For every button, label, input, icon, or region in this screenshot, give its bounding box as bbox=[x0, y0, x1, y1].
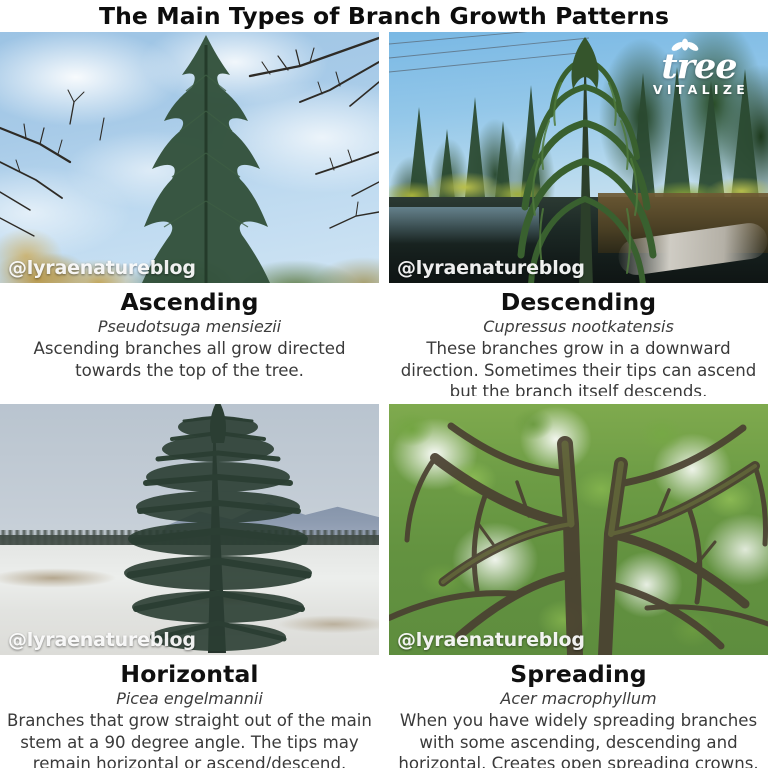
photo-descending: tree VITALIZE @lyraenatureblog bbox=[389, 32, 768, 283]
watermark-spreading: @lyraenatureblog bbox=[397, 629, 585, 651]
page-title: The Main Types of Branch Growth Patterns bbox=[0, 1, 768, 31]
species-spreading: Acer macrophyllum bbox=[389, 688, 768, 709]
spruce-tree-icon bbox=[114, 404, 324, 655]
brand-logo: tree VITALIZE bbox=[639, 38, 759, 97]
panel-spreading: @lyraenatureblog Spreading Acer macrophy… bbox=[389, 404, 768, 768]
heading-descending: Descending bbox=[389, 287, 768, 317]
caption-ascending: Ascending Pseudotsuga mensiezii Ascendin… bbox=[0, 283, 379, 381]
description-descending: These branches grow in a downward direct… bbox=[389, 338, 768, 396]
species-horizontal: Picea engelmannii bbox=[0, 688, 379, 709]
photo-ascending: @lyraenatureblog bbox=[0, 32, 379, 283]
caption-spreading: Spreading Acer macrophyllum When you hav… bbox=[389, 655, 768, 768]
heading-spreading: Spreading bbox=[389, 659, 768, 689]
brand-wordmark: tree bbox=[639, 49, 759, 85]
description-ascending: Ascending branches all grow directed tow… bbox=[0, 338, 379, 381]
photo-horizontal: @lyraenatureblog bbox=[0, 404, 379, 655]
infographic-root: The Main Types of Branch Growth Patterns bbox=[0, 0, 768, 768]
panel-grid: @lyraenatureblog Ascending Pseudotsuga m… bbox=[0, 32, 768, 768]
caption-descending: Descending Cupressus nootkatensis These … bbox=[389, 283, 768, 396]
watermark-descending: @lyraenatureblog bbox=[397, 257, 585, 279]
brand-subtitle: VITALIZE bbox=[643, 82, 759, 97]
conifer-tree-icon bbox=[136, 35, 276, 283]
watermark-ascending: @lyraenatureblog bbox=[8, 257, 196, 279]
watermark-horizontal: @lyraenatureblog bbox=[8, 629, 196, 651]
description-horizontal: Branches that grow straight out of the m… bbox=[0, 710, 379, 768]
heading-horizontal: Horizontal bbox=[0, 659, 379, 689]
panel-horizontal: @lyraenatureblog Horizontal Picea engelm… bbox=[0, 404, 379, 768]
species-descending: Cupressus nootkatensis bbox=[389, 316, 768, 337]
description-spreading: When you have widely spreading branches … bbox=[389, 710, 768, 768]
species-ascending: Pseudotsuga mensiezii bbox=[0, 316, 379, 337]
photo-spreading: @lyraenatureblog bbox=[389, 404, 768, 655]
panel-ascending: @lyraenatureblog Ascending Pseudotsuga m… bbox=[0, 32, 379, 396]
panel-descending: tree VITALIZE @lyraenatureblog Descendin… bbox=[389, 32, 768, 396]
maple-branches-icon bbox=[389, 404, 768, 655]
caption-horizontal: Horizontal Picea engelmannii Branches th… bbox=[0, 655, 379, 768]
heading-ascending: Ascending bbox=[0, 287, 379, 317]
